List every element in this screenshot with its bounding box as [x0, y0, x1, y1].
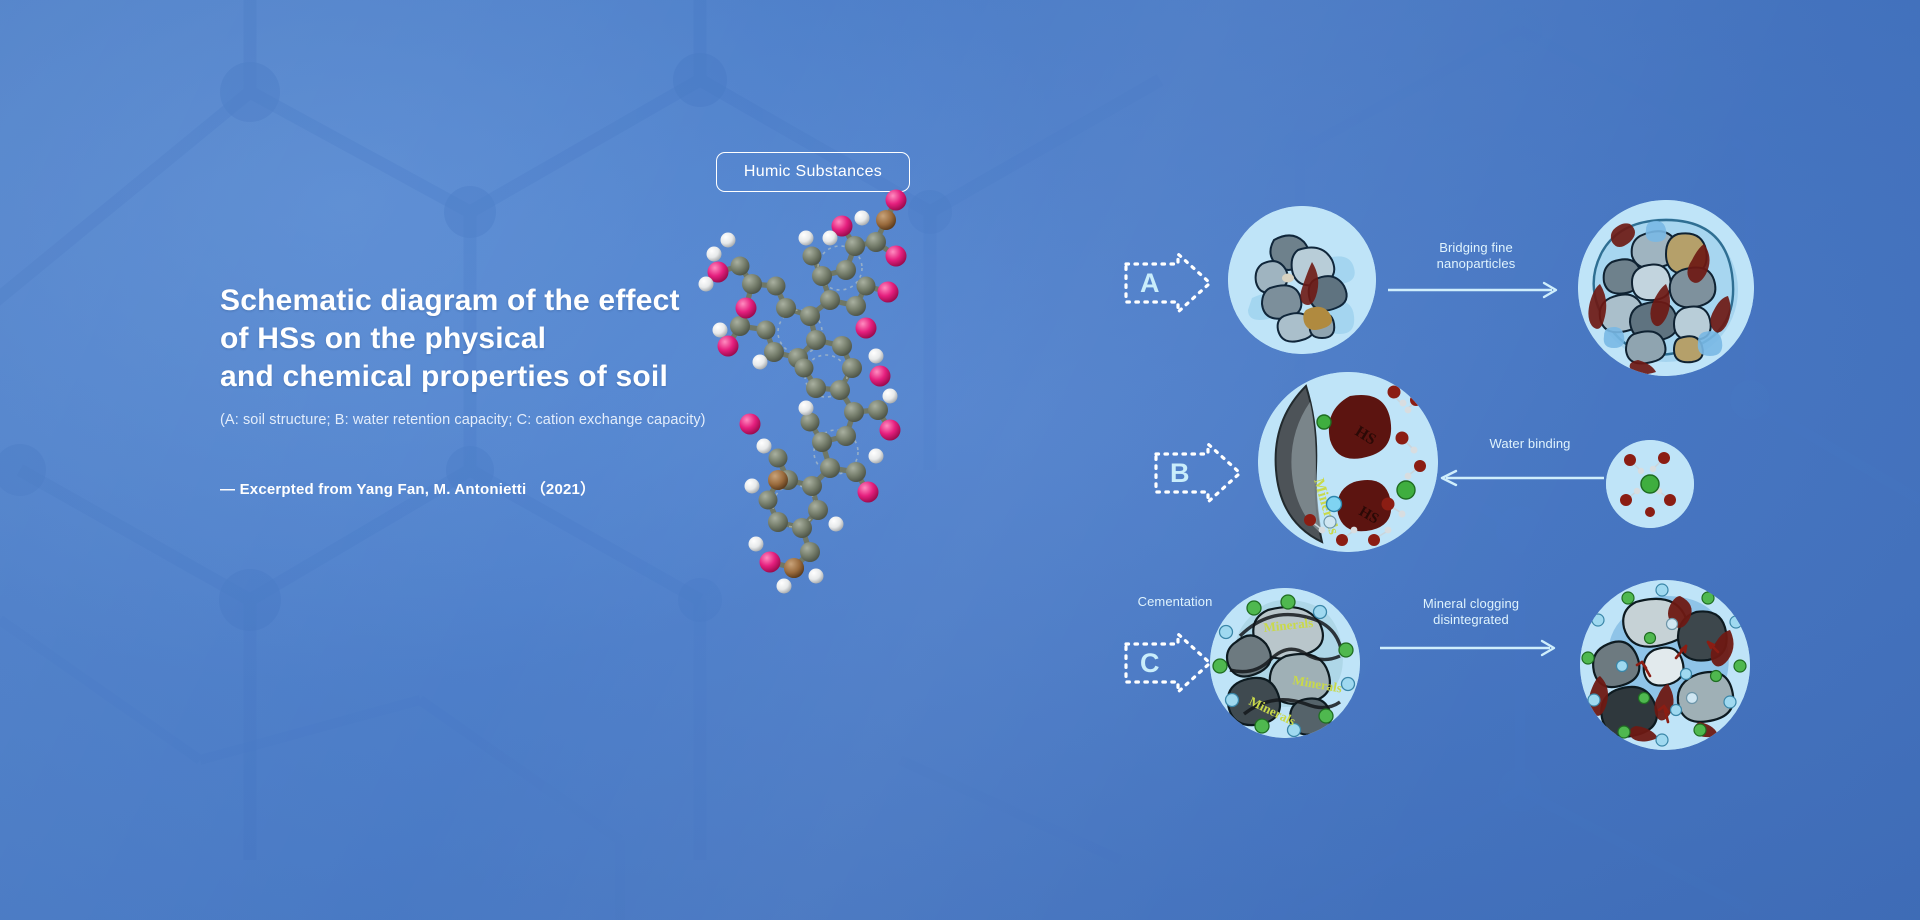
caption-water-binding-text: Water binding: [1450, 436, 1610, 452]
stage-marker-b: B: [1152, 440, 1244, 506]
stage-marker-c: C: [1122, 630, 1214, 696]
circle-dispersed-soil-particles: [1228, 206, 1376, 354]
caption-water-binding: Water binding: [1450, 436, 1610, 452]
caption-cementation: Cementation: [1105, 594, 1245, 610]
stage-marker-b-letter: B: [1170, 458, 1190, 489]
caption-mineral-clogging-disintegrated: Mineral clogging disintegrated: [1376, 596, 1566, 628]
circle-free-water-molecules: [1606, 440, 1694, 528]
stage-marker-a-letter: A: [1140, 268, 1160, 299]
stage-marker-a: A: [1122, 250, 1214, 316]
poster-canvas: Schematic diagram of the effect of HSs o…: [0, 0, 1920, 920]
circle-disintegrated-mineral-aggregate: [1580, 580, 1750, 750]
caption-bridging-line-1: Bridging fine: [1386, 240, 1566, 256]
flow-arrow-c: [1378, 636, 1564, 660]
humic-substance-molecule-model: [690, 180, 970, 600]
flow-arrow-b: [1438, 466, 1606, 490]
circle-cemented-mineral-aggregate: Minerals Minerals Minerals: [1210, 588, 1360, 738]
flow-arrow-a: [1386, 278, 1566, 302]
humic-substances-label-text: Humic Substances: [744, 163, 882, 181]
caption-bridging-fine-nanoparticles: Bridging fine nanoparticles: [1386, 240, 1566, 272]
circle-aggregated-soil-particles: [1578, 200, 1754, 376]
caption-bridging-line-2: nanoparticles: [1386, 256, 1566, 272]
stage-marker-c-letter: C: [1140, 648, 1160, 679]
caption-cementation-text: Cementation: [1105, 594, 1245, 610]
caption-mineral-clogging-line-2: disintegrated: [1376, 612, 1566, 628]
caption-mineral-clogging-line-1: Mineral clogging: [1376, 596, 1566, 612]
circle-hs-mineral-water-complex: Minerals HS HS: [1258, 372, 1438, 552]
